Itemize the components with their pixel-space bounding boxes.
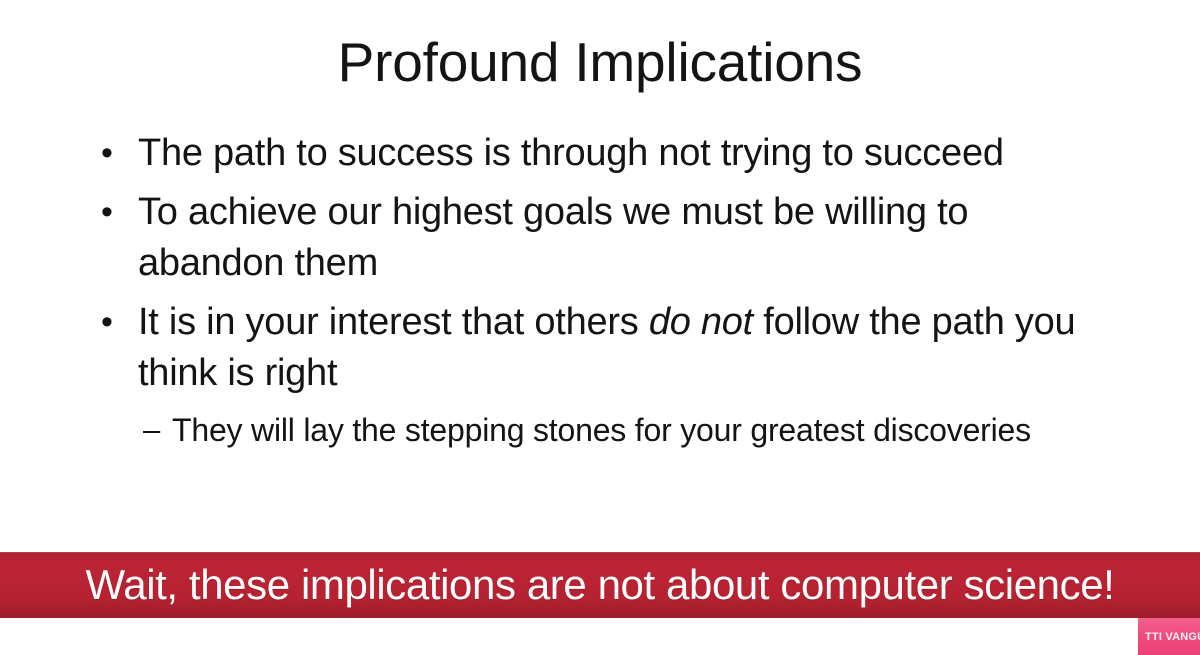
sub-bullet-item-1-text: They will lay the stepping stones for yo…	[172, 412, 1031, 448]
bullet-item-1-label: The path to success is through not tryin…	[138, 128, 1106, 179]
bullet-item-3-emphasis: do not	[649, 301, 753, 343]
bullet-list: • The path to success is through not try…	[96, 128, 1106, 461]
bullet-marker-icon: •	[96, 128, 138, 179]
bullet-item-2: • To achieve our highest goals we must b…	[96, 187, 1106, 289]
bullet-item-2-label: To achieve our highest goals we must be …	[138, 187, 1106, 289]
bullet-item-3: • It is in your interest that others do …	[96, 297, 1106, 399]
bullet-item-3-label: It is in your interest that others do no…	[138, 297, 1106, 399]
caption-banner: Wait, these implications are not about c…	[0, 552, 1200, 618]
logo-label: TTI VANGU	[1138, 630, 1200, 644]
bullet-item-2-text: To achieve our highest goals we must be …	[138, 191, 968, 284]
bullet-item-3-text-before: It is in your interest that others	[138, 301, 649, 343]
bullet-marker-icon: •	[96, 297, 138, 348]
bullet-item-1: • The path to success is through not try…	[96, 128, 1106, 179]
bullet-item-1-text: The path to success is through not tryin…	[138, 132, 1004, 174]
bullet-marker-icon: •	[96, 187, 138, 238]
sub-bullet-dash-icon: –	[141, 407, 172, 453]
caption-text: Wait, these implications are not about c…	[0, 561, 1200, 609]
sub-bullet-item-1: – They will lay the stepping stones for …	[141, 407, 1106, 453]
sub-bullet-item-1-label: They will lay the stepping stones for yo…	[172, 407, 1106, 453]
presentation-slide: Profound Implications • The path to succ…	[0, 0, 1200, 655]
page-title: Profound Implications	[0, 31, 1200, 93]
tti-vanguard-logo-watermark: TTI VANGU	[1138, 618, 1200, 655]
